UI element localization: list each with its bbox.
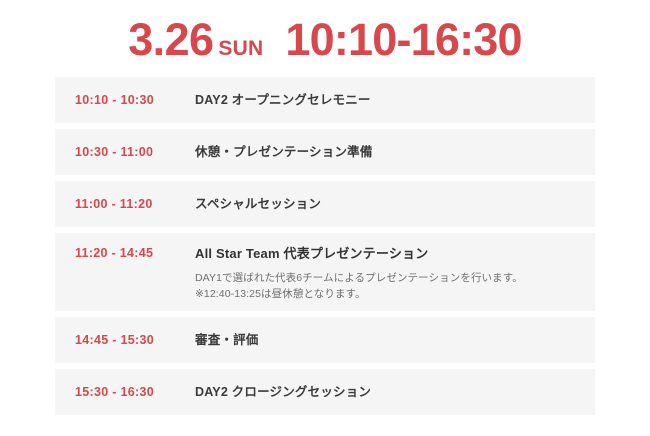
schedule-row-body: 休憩・プレゼンテーション準備	[195, 144, 595, 160]
schedule-row: 10:10 - 10:30 DAY2 オープニングセレモニー	[55, 77, 595, 123]
event-day-of-week: SUN	[218, 38, 263, 59]
schedule-row-title: スペシャルセッション	[195, 196, 595, 212]
schedule-row-body: 審査・評価	[195, 332, 595, 348]
schedule-page: 3.26 SUN 10:10-16:30 10:10 - 10:30 DAY2 …	[0, 0, 650, 436]
event-date: 3.26	[128, 17, 213, 62]
schedule-row: 14:45 - 15:30 審査・評価	[55, 317, 595, 363]
schedule-row-body: DAY2 クロージングセッション	[195, 384, 595, 400]
schedule-row-time: 10:10 - 10:30	[75, 93, 195, 108]
schedule-row-time: 14:45 - 15:30	[75, 333, 195, 348]
schedule-row-time: 11:20 - 14:45	[75, 246, 195, 261]
event-header-inner: 3.26 SUN 10:10-16:30	[128, 17, 522, 62]
schedule-row-time: 10:30 - 11:00	[75, 145, 195, 160]
schedule-row: 15:30 - 16:30 DAY2 クロージングセッション	[55, 369, 595, 415]
schedule-row: 11:00 - 11:20 スペシャルセッション	[55, 181, 595, 227]
schedule-row-body: DAY2 オープニングセレモニー	[195, 92, 595, 108]
schedule-row-description-line: DAY1で選ばれた代表6チームによるプレゼンテーションを行います。	[195, 270, 595, 286]
schedule-row: 11:20 - 14:45 All Star Team 代表プレゼンテーション …	[55, 233, 595, 311]
schedule-row: 10:30 - 11:00 休憩・プレゼンテーション準備	[55, 129, 595, 175]
event-time-range: 10:10-16:30	[285, 17, 521, 62]
schedule-row-body: スペシャルセッション	[195, 196, 595, 212]
schedule-list: 10:10 - 10:30 DAY2 オープニングセレモニー 10:30 - 1…	[55, 77, 595, 421]
schedule-row-title: 審査・評価	[195, 332, 595, 348]
schedule-row-title: 休憩・プレゼンテーション準備	[195, 144, 595, 160]
schedule-row-title: DAY2 オープニングセレモニー	[195, 92, 595, 108]
schedule-row-time: 15:30 - 16:30	[75, 385, 195, 400]
event-header: 3.26 SUN 10:10-16:30	[0, 0, 650, 74]
schedule-row-title: All Star Team 代表プレゼンテーション	[195, 246, 595, 263]
schedule-row-body: All Star Team 代表プレゼンテーション DAY1で選ばれた代表6チー…	[195, 246, 595, 302]
schedule-row-time: 11:00 - 11:20	[75, 197, 195, 212]
schedule-row-title: DAY2 クロージングセッション	[195, 384, 595, 400]
schedule-row-description: DAY1で選ばれた代表6チームによるプレゼンテーションを行います。 ※12:40…	[195, 270, 595, 303]
schedule-row-description-line: ※12:40-13:25は昼休憩となります。	[195, 286, 595, 302]
